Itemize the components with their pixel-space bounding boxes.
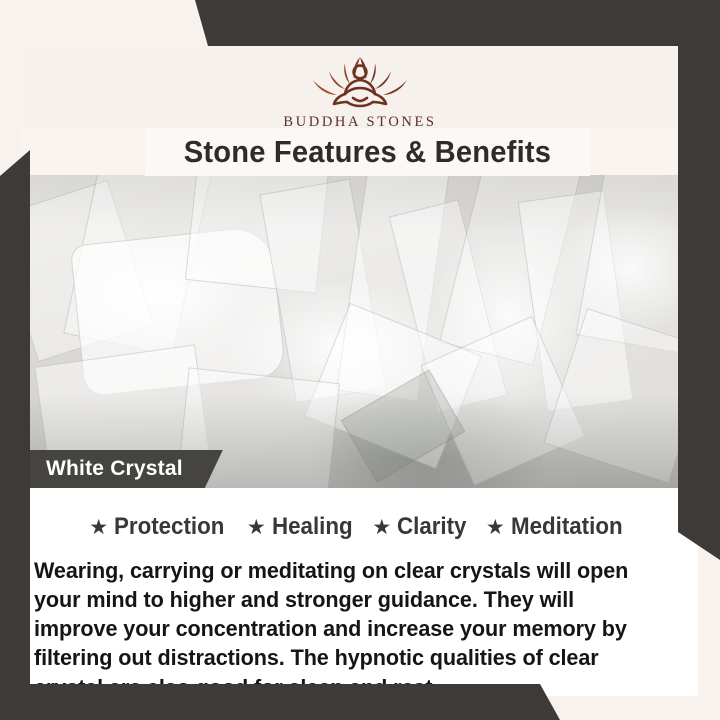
frame-top-bar — [0, 0, 720, 46]
title-band: Stone Features & Benefits — [145, 128, 590, 176]
benefit-clarity: ★ Clarity — [372, 513, 472, 541]
brand-header: BUDDHA STONES — [22, 46, 698, 128]
stone-name: White Crystal — [46, 457, 183, 481]
benefit-meditation: ★ Meditation — [486, 513, 631, 541]
benefit-protection: ★ Protection — [89, 513, 233, 541]
content-card: BUDDHA STONES Stone Features & Benefits — [22, 46, 698, 696]
benefit-label: Clarity — [397, 513, 466, 541]
benefit-healing: ★ Healing — [247, 513, 359, 541]
star-icon: ★ — [372, 517, 391, 538]
frame-left-bar — [0, 150, 30, 720]
lotus-meditation-figure-icon — [285, 47, 435, 111]
stone-photo: White Crystal — [22, 175, 698, 488]
star-icon: ★ — [486, 517, 505, 538]
benefits-list: ★ Protection ★ Healing ★ Clarity ★ Medit… — [22, 488, 698, 552]
frame-right-bar — [678, 0, 720, 560]
benefit-label: Healing — [272, 513, 353, 541]
stone-description: Wearing, carrying or meditating on clear… — [34, 556, 661, 702]
benefit-label: Protection — [114, 513, 224, 541]
brand-logo: BUDDHA STONES — [283, 47, 436, 131]
star-icon: ★ — [247, 517, 266, 538]
body-section: ★ Protection ★ Healing ★ Clarity ★ Medit… — [22, 488, 698, 696]
page-title: Stone Features & Benefits — [184, 134, 551, 170]
star-icon: ★ — [89, 517, 108, 538]
photo-shading — [22, 175, 698, 488]
poster-root: BUDDHA STONES Stone Features & Benefits — [0, 0, 720, 720]
benefit-label: Meditation — [511, 513, 623, 541]
stone-name-tag: White Crystal — [22, 450, 223, 488]
